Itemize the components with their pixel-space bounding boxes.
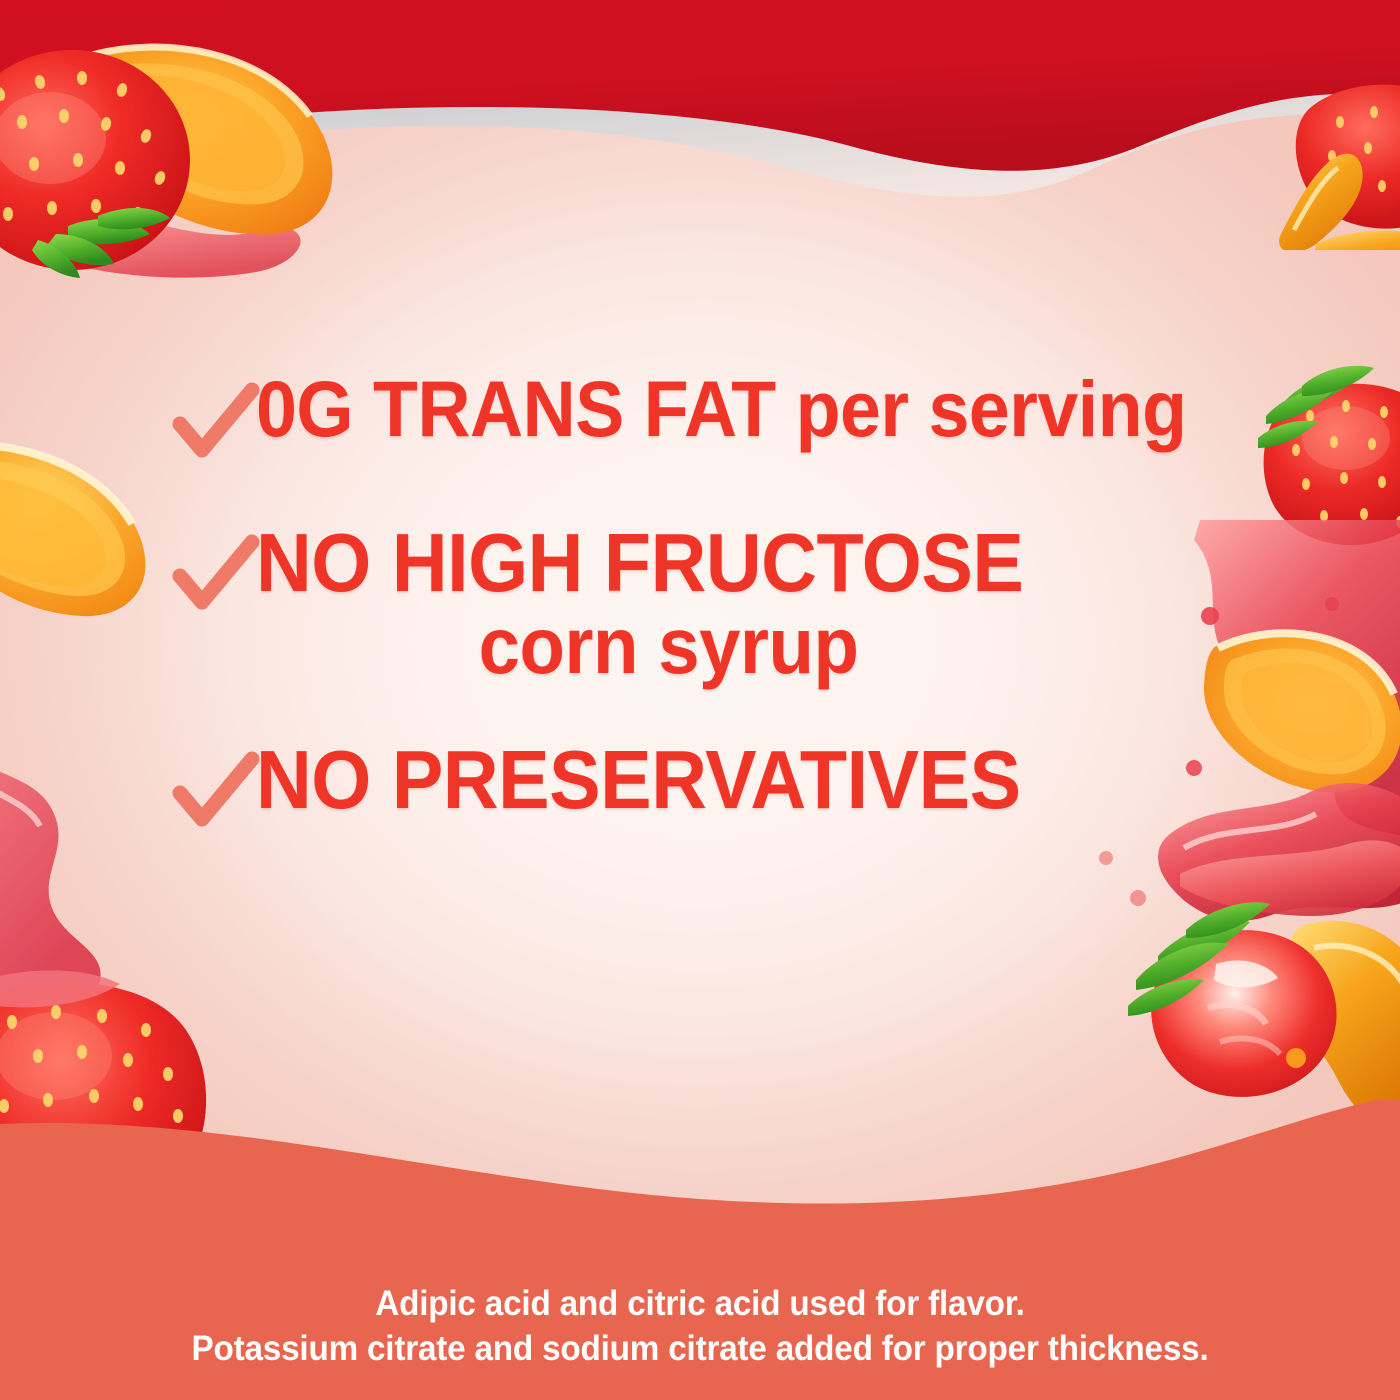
claim-text: NO PRESERVATIVES <box>256 741 1078 819</box>
claim-text: NO HIGH FRUCTOSE corn syrup <box>256 524 1081 683</box>
footer-line-1: Adipic acid and citric acid used for fla… <box>35 1282 1365 1327</box>
claim-item: NO PRESERVATIVES <box>168 741 1400 841</box>
claim-item: 0G TRANS FAT per serving <box>168 372 1400 472</box>
red-wave-banner <box>0 0 1400 260</box>
check-icon <box>168 530 262 624</box>
red-band <box>0 0 1400 171</box>
claim-line-1: 0G TRANS FAT per serving <box>256 372 1187 446</box>
claim-text: 0G TRANS FAT per serving <box>256 372 1257 446</box>
check-icon <box>168 747 262 841</box>
claim-line-2: corn syrup <box>285 608 1052 683</box>
claims-list: 0G TRANS FAT per serving NO HIGH FRUCTOS… <box>0 372 1400 841</box>
check-icon <box>168 378 262 472</box>
silver-wave <box>0 0 1400 197</box>
orange-splash-top-right <box>1279 154 1400 250</box>
claim-line-1: NO PRESERVATIVES <box>256 741 1021 819</box>
strawberry-top-right <box>1270 30 1400 250</box>
claim-line-1: NO HIGH FRUCTOSE <box>256 524 1023 602</box>
product-claims-poster: 0G TRANS FAT per serving NO HIGH FRUCTOS… <box>0 0 1400 1400</box>
strawberry-slice-bottom-right <box>1090 840 1400 1170</box>
strawberry-bottom-left <box>0 960 270 1250</box>
footer-disclaimer: Adipic acid and citric acid used for fla… <box>0 1282 1400 1372</box>
footer-line-2: Potassium citrate and sodium citrate add… <box>35 1327 1365 1372</box>
strawberry-top-left <box>0 20 380 340</box>
strawberry-leaves <box>32 208 170 278</box>
claim-item: NO HIGH FRUCTOSE corn syrup <box>168 524 1400 683</box>
orange-wedge-top-left <box>72 45 333 234</box>
